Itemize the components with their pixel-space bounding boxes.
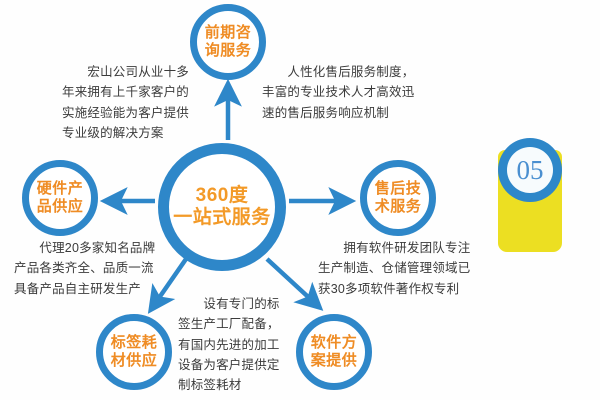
description-pre-sales-consulting: 宏山公司从业十多 年来拥有上千家客户的 实施经验能为客户提供 专业级的解决方案 [62, 62, 238, 143]
description-software-solution: 拥有软件研发团队专注 生产制造、仓储管理领域已 获30多项软件著作权专利 [318, 238, 508, 299]
description-label-consumables: 设有专门的标 签生产工厂配备， 有国内先进的加工 设备为客户提供定 制标签耗材 [178, 294, 308, 395]
step-number-badge: 05 [494, 132, 566, 256]
node-label-consumables-supply[interactable]: 标签耗 材供应 [96, 314, 172, 390]
node-after-sales-technical-service[interactable]: 售后技 术服务 [360, 160, 436, 236]
diagram-canvas: 360度 一站式服务 前期咨 询服务 售后技 术服务 软件方 案提供 标签耗 材… [0, 0, 600, 400]
description-after-sales-service: 人性化售后服务制度， 丰富的专业技术人才高效迅 速的售后服务响应机制 [262, 62, 442, 123]
node-label: 标签耗 材供应 [111, 334, 158, 369]
node-label: 硬件产 品供应 [37, 180, 84, 215]
node-label: 软件方 案提供 [311, 334, 358, 369]
node-hardware-supply[interactable]: 硬件产 品供应 [22, 160, 98, 236]
node-label: 前期咨 询服务 [205, 24, 252, 59]
badge-number: 05 [507, 147, 553, 193]
node-label: 售后技 术服务 [375, 180, 422, 215]
hub-node-label: 360度 一站式服务 [173, 185, 271, 230]
badge-ring-shape: 05 [498, 138, 562, 202]
description-hardware-supply: 代理20多家知名品牌 产品各类齐全、品质一流 具备产品自主研发生产 [14, 238, 194, 299]
